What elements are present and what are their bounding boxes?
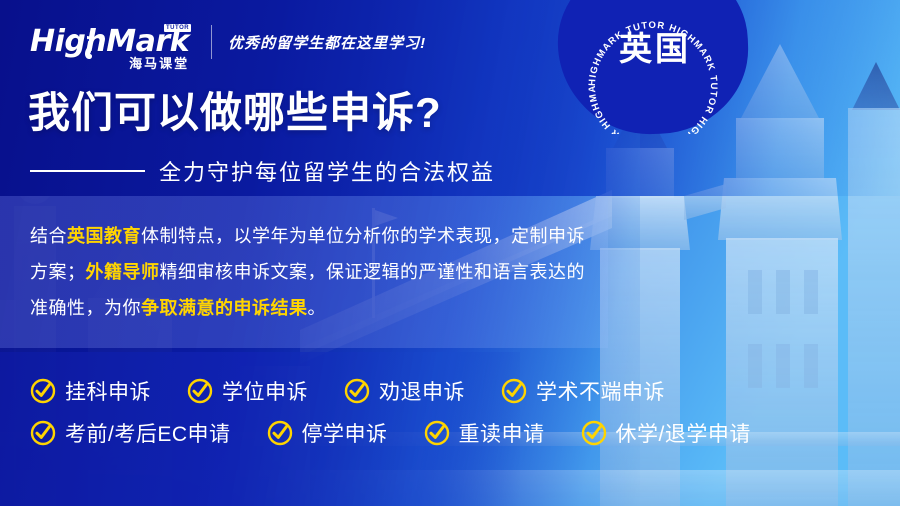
body-line2-b: 精细审核申诉文案，保证逻辑的严 — [160, 262, 438, 282]
country-badge: HIGHMARK TUTOR HIGHMARK TUTOR HIGHMARK T… — [558, 0, 748, 134]
service-tag[interactable]: 学位申诉 — [187, 376, 308, 406]
service-tag-label: 学位申诉 — [222, 376, 308, 406]
check-circle-icon — [501, 378, 527, 404]
service-tag-row-1: 挂科申诉 学位申诉 劝退申诉 学术不端申诉 — [30, 376, 751, 406]
logo-chinese-name: 海马课堂 — [129, 53, 189, 72]
subtitle-text: 全力守护每位留学生的合法权益 — [159, 155, 495, 187]
header: HighMark TUTOR 海马课堂 优秀的留学生都在这里学习! — [30, 25, 426, 59]
subtitle-rule — [30, 170, 145, 172]
body-line1-a: 结合 — [30, 226, 67, 246]
service-tag-label: 考前/考后EC申请 — [65, 418, 231, 448]
seahorse-icon — [76, 35, 94, 69]
badge-country-label: 英国 — [558, 22, 748, 70]
brand-logo[interactable]: HighMark TUTOR 海马课堂 — [30, 27, 189, 57]
body-line3-b: 。 — [308, 298, 327, 318]
check-circle-icon — [267, 420, 293, 446]
service-tag[interactable]: 重读申请 — [424, 418, 545, 448]
check-circle-icon — [30, 420, 56, 446]
service-tag[interactable]: 休学/退学申请 — [581, 418, 751, 448]
service-tag-label: 重读申请 — [459, 418, 545, 448]
page-subtitle: 全力守护每位留学生的合法权益 — [30, 155, 495, 187]
service-tag-label: 劝退申诉 — [379, 376, 465, 406]
service-tag-list: 挂科申诉 学位申诉 劝退申诉 学术不端申诉 考前/考后EC申请 — [30, 376, 751, 448]
service-tag[interactable]: 考前/考后EC申请 — [30, 418, 231, 448]
check-circle-icon — [581, 420, 607, 446]
check-circle-icon — [30, 378, 56, 404]
check-circle-icon — [187, 378, 213, 404]
service-tag-label: 停学申诉 — [302, 418, 388, 448]
service-tag[interactable]: 劝退申诉 — [344, 376, 465, 406]
brand-tagline: 优秀的留学生都在这里学习! — [228, 32, 426, 53]
service-tag-row-2: 考前/考后EC申请 停学申诉 重读申请 休学/退学申请 — [30, 418, 751, 448]
logo-trademark: TUTOR — [164, 24, 191, 32]
service-tag-label: 学术不端申诉 — [536, 376, 665, 406]
check-circle-icon — [344, 378, 370, 404]
page-title: 我们可以做哪些申诉? — [28, 92, 442, 134]
body-paragraph: 结合英国教育体制特点，以学年为单位分析你的学术表现，定制申诉方案；外籍导师精细审… — [30, 218, 590, 326]
body-line1-b: 体制特点，以学年为单位分析你的学术表现， — [141, 226, 511, 246]
service-tag-label: 挂科申诉 — [65, 376, 151, 406]
service-tag[interactable]: 停学申诉 — [267, 418, 388, 448]
service-tag[interactable]: 学术不端申诉 — [501, 376, 665, 406]
service-tag[interactable]: 挂科申诉 — [30, 376, 151, 406]
body-line1-highlight: 英国教育 — [67, 226, 141, 246]
promo-banner: HighMark TUTOR 海马课堂 优秀的留学生都在这里学习! HIGHMA… — [0, 0, 900, 506]
body-line3-highlight: 争取满意的申诉结果 — [141, 298, 308, 318]
header-divider — [211, 25, 212, 59]
service-tag-label: 休学/退学申请 — [616, 418, 751, 448]
check-circle-icon — [424, 420, 450, 446]
body-line2-highlight: 外籍导师 — [86, 262, 160, 282]
